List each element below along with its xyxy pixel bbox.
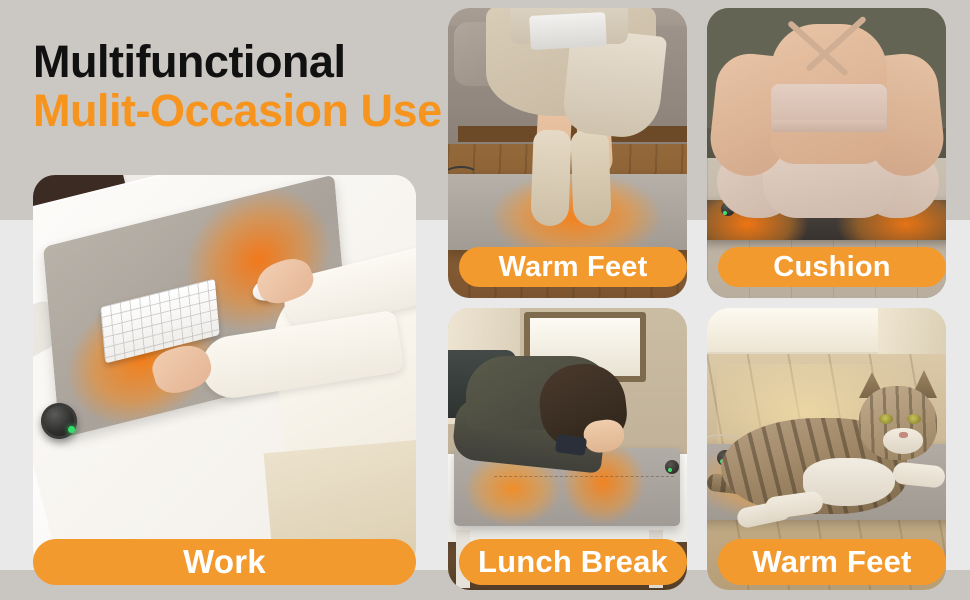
panel-work: [33, 175, 416, 570]
knit-sock-right: [570, 129, 611, 226]
badge-warm-feet-cat: Warm Feet: [718, 539, 946, 585]
knit-sock-left: [530, 129, 571, 226]
cat-eye-left: [879, 414, 893, 424]
heat-control-dial: [41, 403, 77, 439]
cat-nose: [899, 432, 908, 438]
scene-work: [33, 175, 416, 570]
tablet: [529, 12, 607, 50]
badge-warm-feet-top: Warm Feet: [459, 247, 687, 287]
badge-cushion: Cushion: [718, 247, 946, 287]
badge-lunch-break: Lunch Break: [459, 539, 687, 585]
mat-seam: [494, 476, 674, 478]
product-feature-image: Multifunctional Mulit-Occasion Use W: [0, 0, 970, 600]
heat-control-dial: [665, 460, 679, 474]
cat-eye-right: [907, 414, 921, 424]
headline-line-2: Mulit-Occasion Use: [33, 86, 442, 136]
sports-bra-band: [771, 120, 887, 132]
headline: Multifunctional Mulit-Occasion Use: [33, 38, 442, 136]
window-light: [707, 308, 885, 352]
headline-line-1: Multifunctional: [33, 38, 442, 86]
badge-work: Work: [33, 539, 416, 585]
